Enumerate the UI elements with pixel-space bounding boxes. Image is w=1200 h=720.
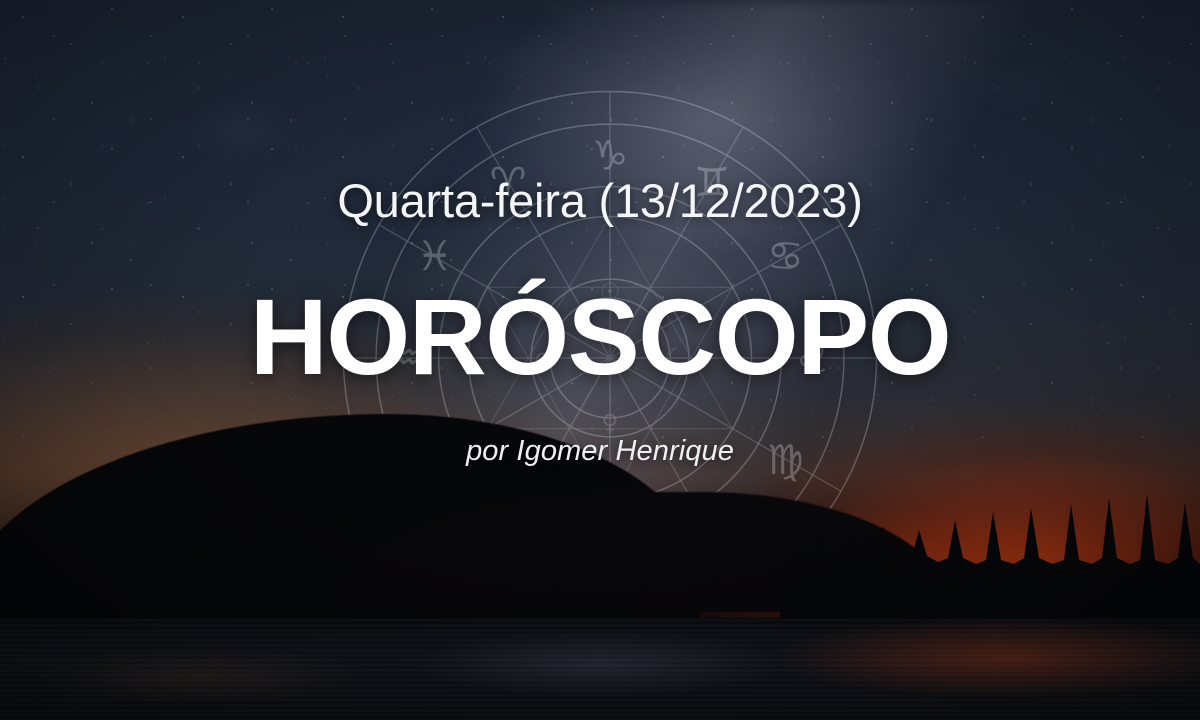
banner-date: Quarta-feira (13/12/2023): [0, 176, 1200, 227]
horoscope-banner: ♑ ♊ ♋ ♌ ♍ ♐ ♏ ♎ ♍ ♒ ♓ ♈ ☉ ☾ ♀ ♂: [0, 0, 1200, 720]
author-byline: por Igomer Henrique: [0, 435, 1200, 468]
page-title: HORÓSCOPO: [0, 283, 1200, 391]
banner-text-block: Quarta-feira (13/12/2023) HORÓSCOPO por …: [0, 176, 1200, 468]
